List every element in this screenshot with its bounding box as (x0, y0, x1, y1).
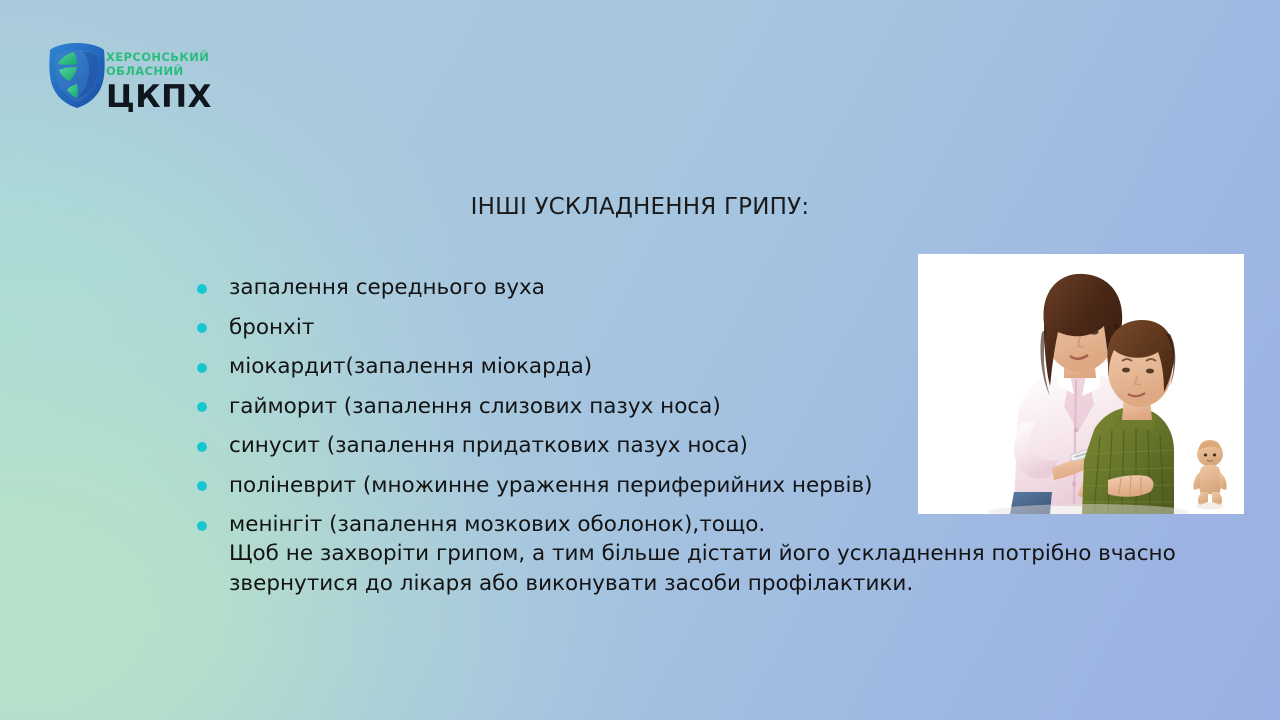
bullet-dot-icon (197, 284, 207, 294)
list-item-label: поліневрит (множинне ураження периферийн… (229, 473, 873, 498)
closing-paragraph: Щоб не захворіти грипом, а тим більше ді… (229, 539, 1189, 599)
bullet-dot-icon (197, 481, 207, 491)
logo-abbreviation: ЦКПХ (106, 80, 246, 114)
list-item-label: синусит (запалення придаткових пазух нос… (229, 433, 748, 458)
bullet-dot-icon (197, 521, 207, 531)
logo-line-2: ОБЛАСНИЙ (106, 65, 246, 79)
mother-taking-child-temperature-photo (918, 254, 1244, 514)
bullet-dot-icon (197, 442, 207, 452)
list-item-label: запалення середнього вуха (229, 275, 545, 300)
bullet-dot-icon (197, 402, 207, 412)
logo-line-1: ХЕРСОНСЬКИЙ (106, 51, 246, 65)
bullet-dot-icon (197, 323, 207, 333)
organization-logo: ХЕРСОНСЬКИЙ ОБЛАСНИЙ ЦКПХ (44, 38, 244, 114)
list-item-label: бронхіт (229, 315, 314, 340)
shield-leaf-logo-icon (44, 40, 110, 110)
list-item-label: менінгіт (запалення мозкових оболонок),т… (229, 512, 765, 537)
list-item-label: гайморит (запалення слизових пазух носа) (229, 394, 721, 419)
list-item-label: міокардит(запалення міокарда) (229, 354, 592, 379)
slide-title: ІНШІ УСКЛАДНЕННЯ ГРИПУ: (0, 194, 1280, 220)
bullet-dot-icon (197, 363, 207, 373)
logo-wordmark: ХЕРСОНСЬКИЙ ОБЛАСНИЙ ЦКПХ (106, 38, 246, 114)
